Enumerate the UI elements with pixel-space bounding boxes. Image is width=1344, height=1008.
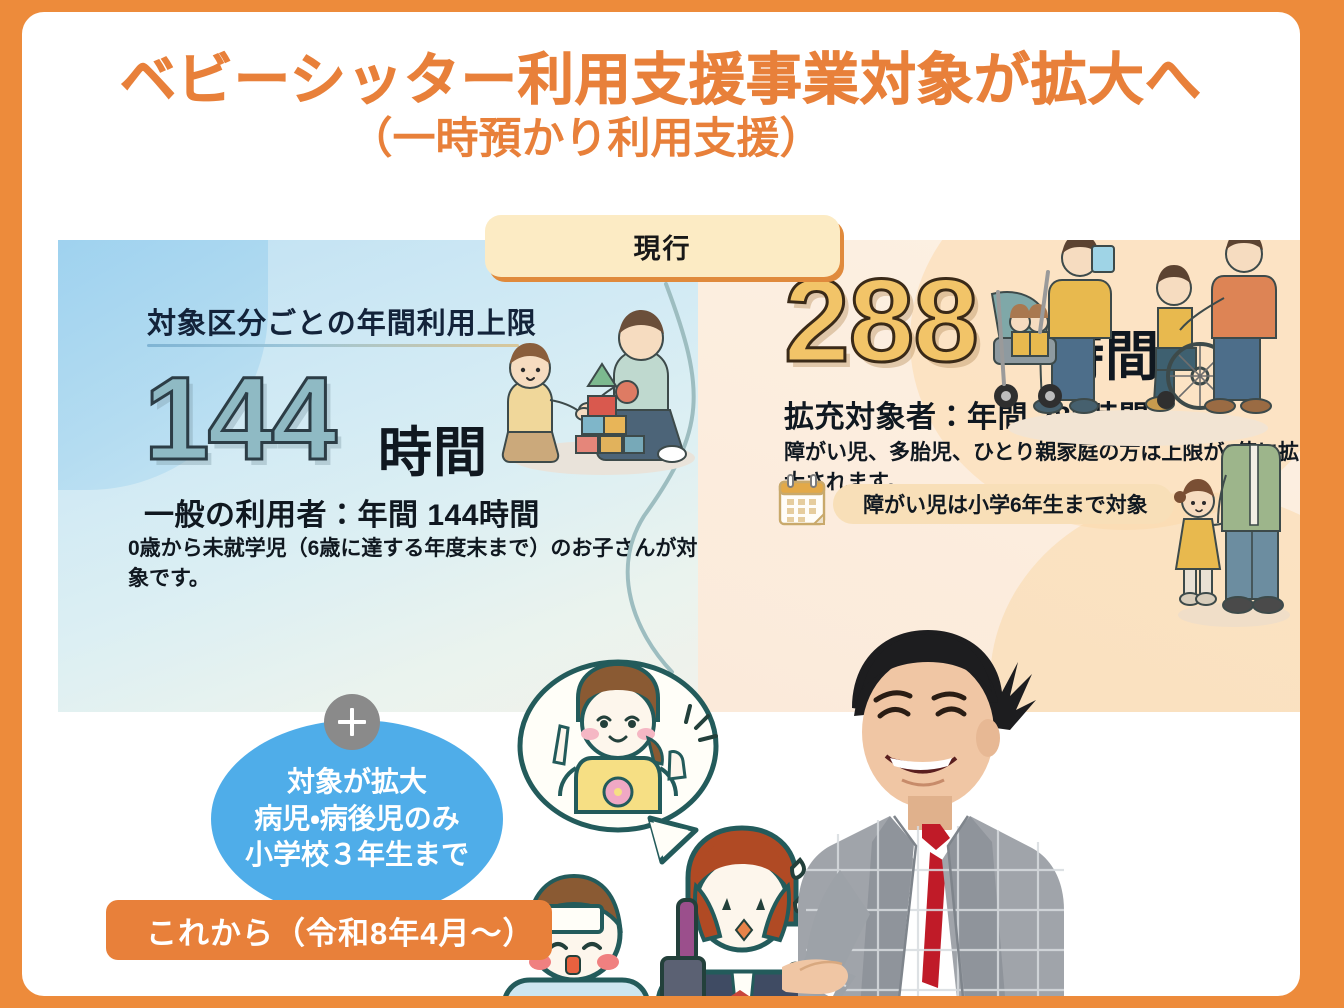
presenter-photo [782,620,1122,996]
left-panel-big-number: 144 [144,360,335,478]
plus-icon [324,694,380,750]
content-card: ベビーシッター利用支援事業対象が拡大へ （一時預かり利用支援） 現行 対象区分ご… [22,12,1300,996]
left-panel-line1: 一般の利用者：年間 144時間 [144,490,540,534]
page-frame: ベビーシッター利用支援事業対象が拡大へ （一時預かり利用支援） 現行 対象区分ご… [0,0,1344,1008]
current-status-badge-label: 現行 [634,227,692,266]
parent-and-child-illustration [1168,435,1300,635]
expansion-line-1: 対象が拡大 [287,764,427,801]
left-panel-line2: 0歳から未就学児（6歳に達する年度末まで）のお子さんが対象です。 [128,532,698,592]
future-status-bar: これから（令和8年4月〜） [106,900,552,960]
current-status-badge: 現行 [485,215,840,277]
expansion-line-2: 病児・病後児のみ [254,801,460,838]
page-title: ベビーシッター利用支援事業対象が拡大へ （一時預かり利用支援） [22,50,1300,164]
future-status-label: これから（令和8年4月〜） [146,908,534,953]
expansion-line-3: 小学校３年生まで [245,837,469,874]
calendar-note-label: 障がい児は小学6年生まで対象 [863,489,1148,519]
right-panel-big-number: 288 [784,262,978,380]
calendar-icon [774,472,832,530]
left-panel-heading-rule [147,344,519,347]
title-main-text: ベビーシッター利用支援事業対象が拡大へ [22,50,1300,110]
title-sub-text: （一時預かり利用支援） [22,116,1300,163]
left-panel-heading: 対象区分ごとの年間利用上限 [147,300,537,342]
families-stroller-wheelchair-illustration [988,240,1288,460]
father-and-toddler-illustration [488,290,698,480]
expansion-highlight-circle: 対象が拡大 病児・病後児のみ 小学校３年生まで [211,720,503,918]
left-panel-unit: 時間 [378,408,488,487]
calendar-note-pill: 障がい児は小学6年生まで対象 [833,484,1174,524]
